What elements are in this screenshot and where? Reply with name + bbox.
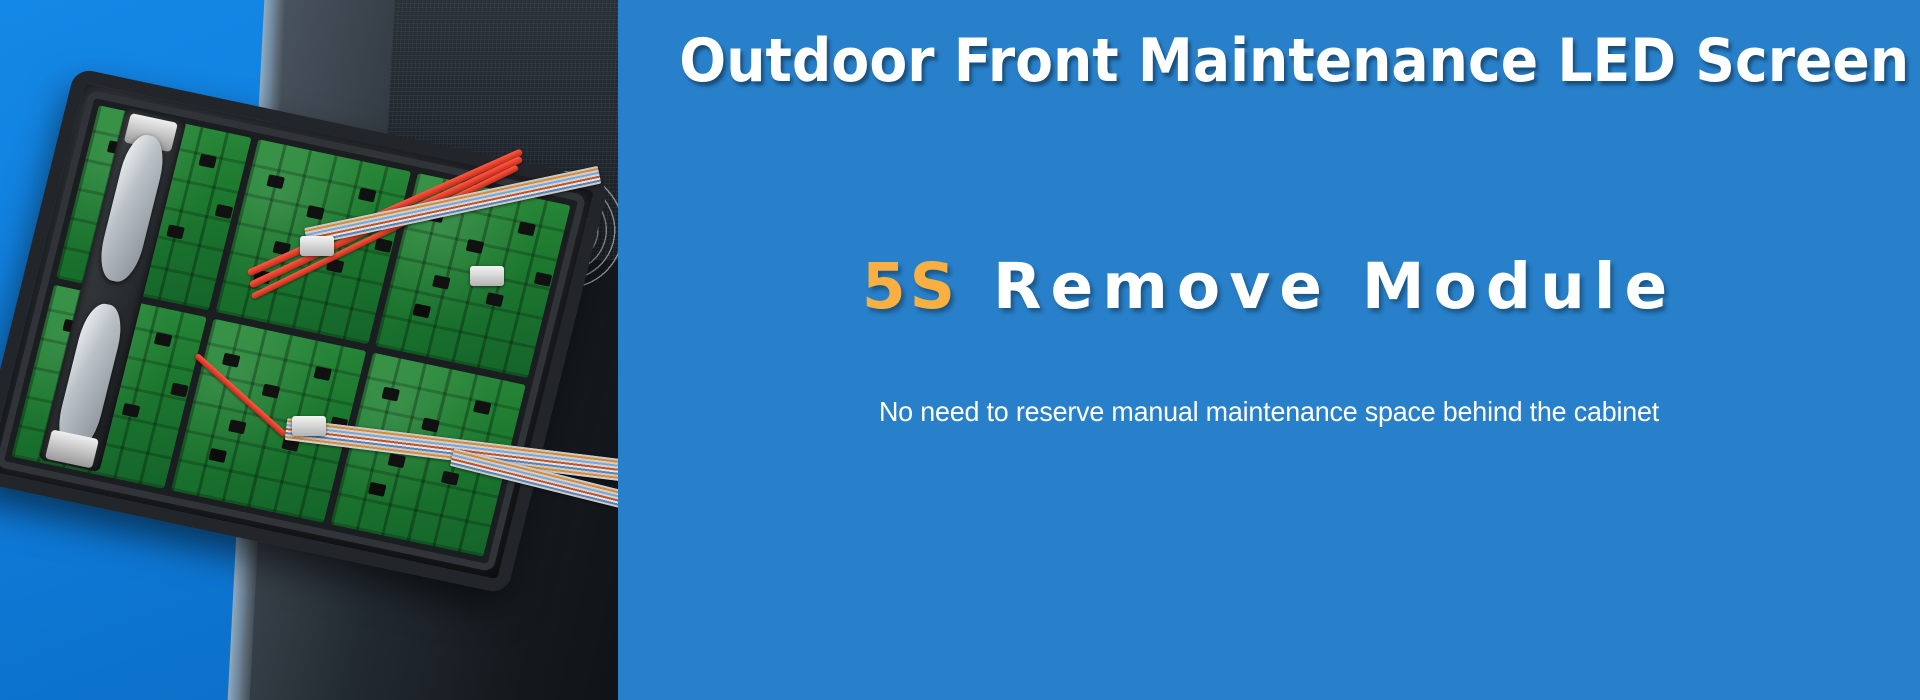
page-title: Outdoor Front Maintenance LED Screen [679, 30, 1858, 93]
cable-connector [470, 266, 504, 286]
headline-number: 5S [862, 250, 959, 323]
product-banner: Outdoor Front Maintenance LED Screen 5SR… [0, 0, 1920, 700]
open-led-cabinet-photo [0, 0, 618, 700]
headline-word: Remove Module [993, 250, 1676, 323]
content-panel: Outdoor Front Maintenance LED Screen 5SR… [618, 0, 1920, 700]
subtitle: No need to reserve manual maintenance sp… [644, 396, 1894, 428]
cable-connector [300, 236, 334, 256]
headline: 5SRemove Module [618, 252, 1920, 321]
cable-connector [292, 416, 326, 436]
